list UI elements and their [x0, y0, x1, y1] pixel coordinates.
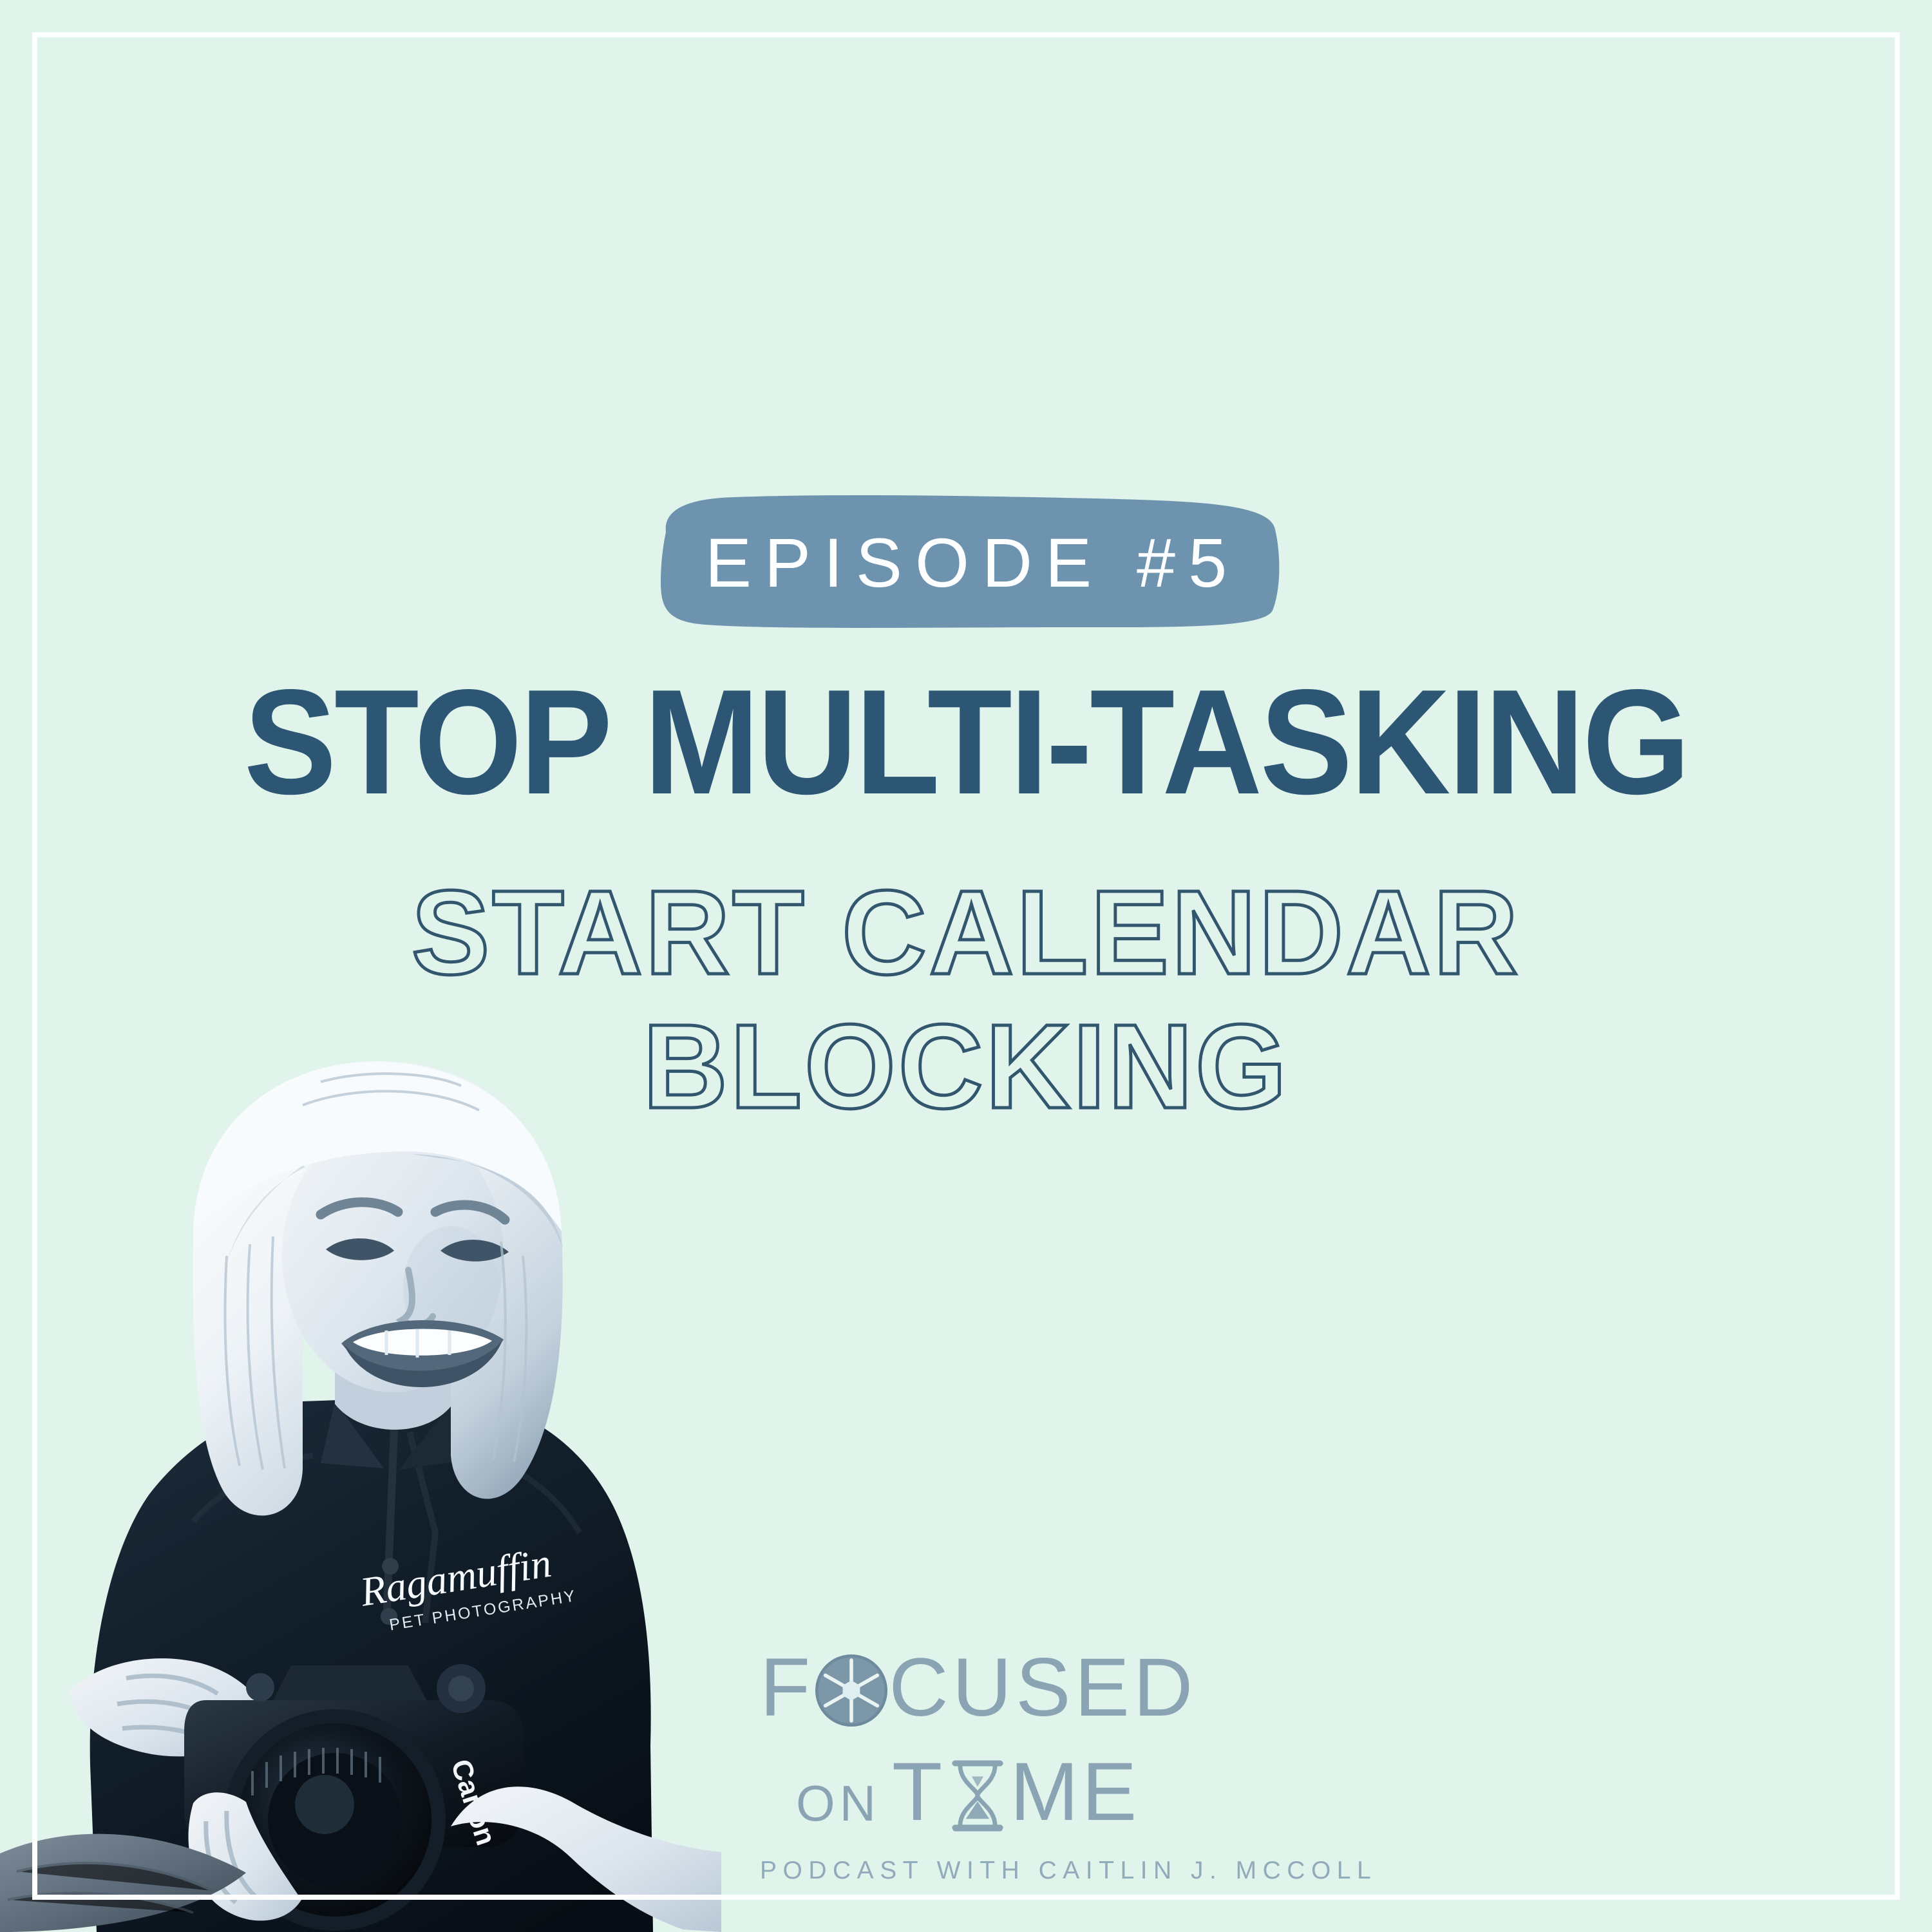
logo-letter-t: T [892, 1751, 945, 1833]
host-photo-illustration: Canon [0, 1043, 721, 1932]
episode-cover-canvas: Canon [0, 0, 1932, 1932]
episode-badge-label: EPISODE #5 [644, 495, 1288, 630]
headline-secondary: START CALENDAR BLOCKING [0, 866, 1932, 1135]
hourglass-icon [948, 1757, 1007, 1833]
host-photo: Canon [0, 1043, 721, 1932]
headline-secondary-line-1: START CALENDAR [19, 866, 1913, 1000]
logo-wordmark-on-time: ON T [760, 1752, 1249, 1833]
podcast-logo: F CUSED ON [760, 1645, 1249, 1885]
camera-aperture-icon [815, 1654, 887, 1727]
headline-primary: STOP MULTI-TASKING [68, 671, 1864, 815]
logo-letter-f: F [760, 1647, 814, 1729]
logo-letters-cused: CUSED [889, 1647, 1197, 1729]
episode-badge: EPISODE #5 [644, 495, 1288, 630]
logo-word-on: ON [796, 1778, 880, 1828]
headline-secondary-line-2: BLOCKING [19, 1000, 1913, 1134]
logo-tagline: PODCAST WITH CAITLIN J. MCCOLL [760, 1857, 1249, 1885]
logo-letters-me: ME [1010, 1751, 1140, 1833]
logo-word-time: T ME [892, 1751, 1140, 1833]
logo-wordmark-focused: F CUSED [760, 1645, 1249, 1730]
